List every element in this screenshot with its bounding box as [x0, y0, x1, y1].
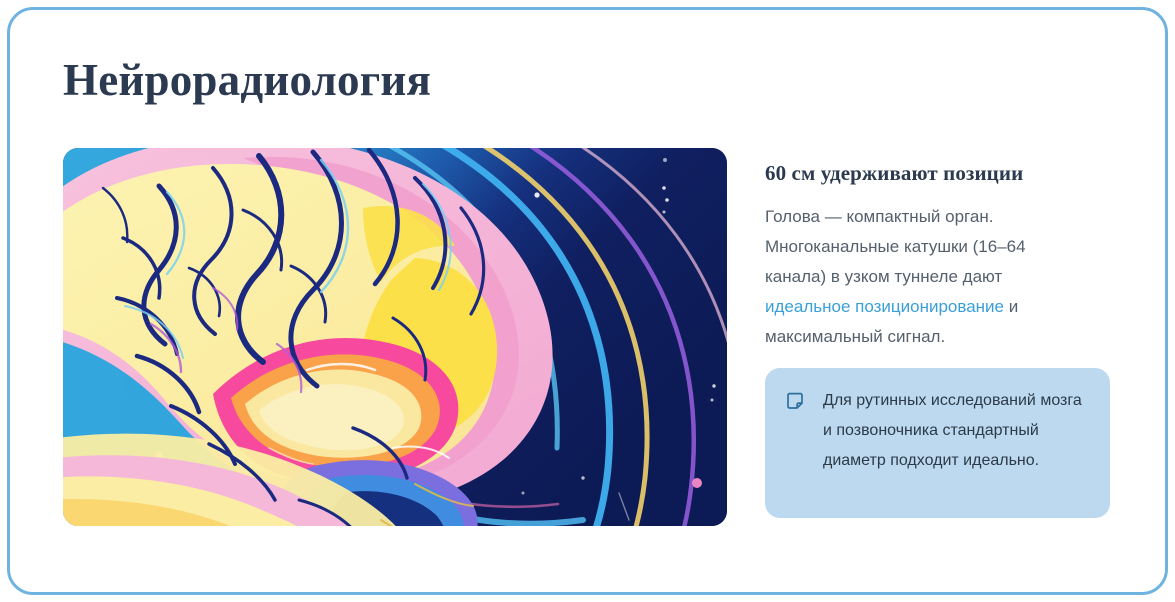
side-column: 60 см удерживают позиции Голова — компак…	[765, 160, 1115, 352]
callout-text: Для рутинных исследований мозга и позвон…	[823, 386, 1085, 476]
side-body-highlight: идеальное позиционирование	[765, 297, 1004, 316]
side-body: Голова — компактный орган. Многоканальны…	[765, 202, 1077, 352]
side-heading: 60 см удерживают позиции	[765, 160, 1115, 186]
side-body-part1: Голова — компактный орган. Многоканальны…	[765, 207, 1026, 286]
page-title: Нейрорадиология	[63, 52, 431, 108]
brain-illustration	[63, 148, 727, 526]
note-icon	[785, 391, 805, 411]
callout-box: Для рутинных исследований мозга и позвон…	[765, 368, 1110, 518]
slide-root: Нейрорадиология	[0, 0, 1175, 602]
